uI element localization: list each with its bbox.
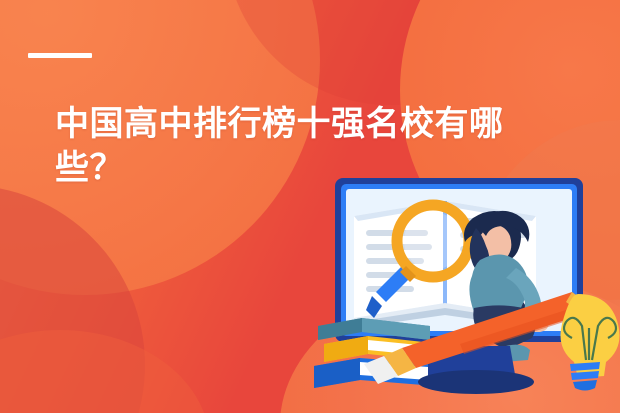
- banner-canvas: 中国高中排行榜十强名校有哪些？: [0, 0, 620, 413]
- study-research-illustration: [310, 168, 620, 413]
- lightbulb-icon: [561, 294, 620, 391]
- accent-rule: [28, 53, 92, 58]
